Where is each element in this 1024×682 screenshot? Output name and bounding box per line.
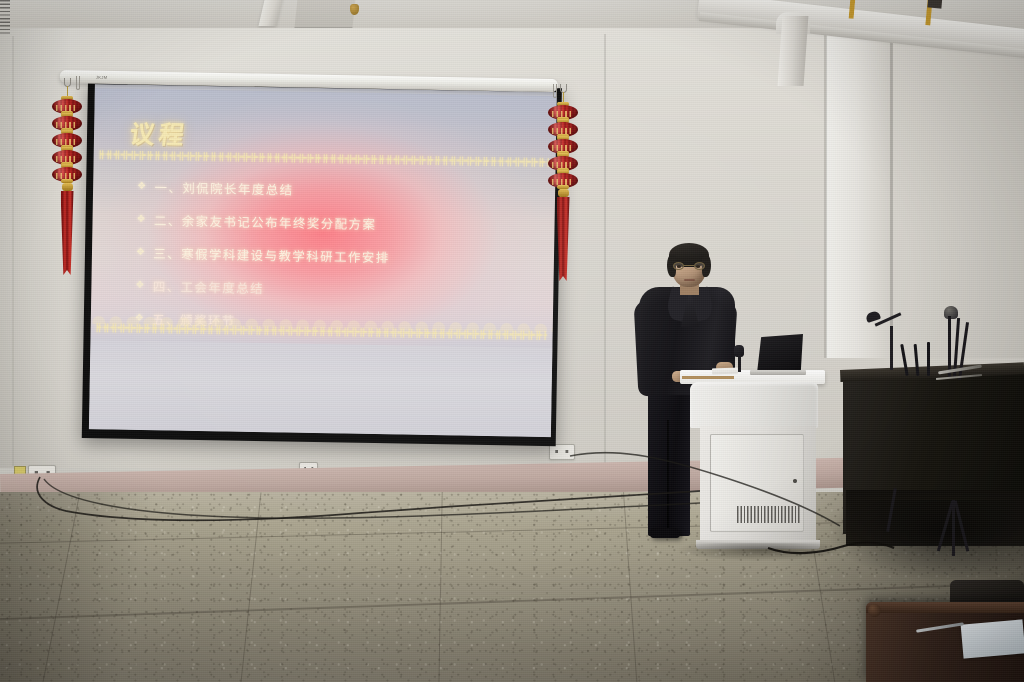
- projector-screen[interactable]: 议程 ❖ 一、刘侃院长年度总结 ❖ 二、余家友书记公布年终奖分配方案 ❖ 三、寒…: [82, 80, 562, 446]
- lectern-vent-side: [0, 0, 10, 34]
- bullet-marker-icon: ❖: [137, 181, 148, 192]
- slide-title: 议程: [128, 115, 191, 152]
- lantern-tassel-knot: [62, 183, 73, 191]
- laptop-screen[interactable]: [757, 334, 803, 373]
- lectern[interactable]: [0, 0, 10, 34]
- podium-paper: [712, 368, 738, 375]
- lectern-cabinet-door[interactable]: [710, 434, 804, 532]
- tripod-head-icon: [944, 306, 958, 319]
- list-item: ❖ 二、余家友书记公布年终奖分配方案: [136, 210, 534, 236]
- screen-blank-area: [89, 340, 552, 437]
- list-item: ❖ 三、寒假学科建设与教学科研工作安排: [136, 243, 534, 269]
- ceiling-panel: [294, 0, 355, 28]
- structural-column: [826, 28, 892, 358]
- gold-frame-dark-insert: [927, 0, 942, 9]
- column-edge-left: [824, 28, 827, 358]
- antenna-icon: [927, 342, 930, 376]
- foreground-desk-knob: [868, 604, 881, 617]
- wall-socket[interactable]: [549, 444, 575, 460]
- equipment-shadow: [830, 500, 1024, 580]
- foreground-papers: [961, 619, 1024, 658]
- presenter-legs: [648, 390, 690, 536]
- column-edge-right: [890, 28, 893, 358]
- presenter-eye-right: [696, 265, 700, 268]
- presenter-eye-left: [677, 265, 681, 268]
- conference-room-photo: JKJM 议程 ❖ 一、刘侃院长年度总结 ❖ 二、余家友书记公布年终奖分配方案: [0, 0, 1024, 682]
- lantern-tassel: [61, 191, 74, 275]
- chinese-lantern-string-right: [546, 84, 580, 281]
- lectern-shadow: [678, 543, 843, 561]
- projector-screen-surface: 议程 ❖ 一、刘侃院长年度总结 ❖ 二、余家友书记公布年终奖分配方案 ❖ 三、寒…: [89, 84, 557, 437]
- bullet-marker-icon: ❖: [135, 280, 146, 291]
- presenter-shoe: [650, 528, 680, 538]
- bullet-marker-icon: ❖: [136, 214, 147, 225]
- lantern-tassel: [557, 197, 570, 281]
- chinese-lantern-string-left: [50, 78, 84, 275]
- bullet-marker-icon: ❖: [136, 247, 147, 258]
- microphone-stem: [738, 352, 741, 372]
- lectern-trim: [682, 376, 734, 379]
- wall-joint-right: [604, 34, 606, 468]
- lantern-icon: [52, 164, 82, 183]
- lectern-front-panel: [690, 382, 818, 428]
- lock-icon[interactable]: [793, 479, 797, 483]
- pipe-downspout: [778, 16, 809, 86]
- presentation-slide: 议程 ❖ 一、刘侃院长年度总结 ❖ 二、余家友书记公布年终奖分配方案 ❖ 三、寒…: [90, 88, 556, 348]
- laptop-base[interactable]: [750, 370, 806, 375]
- list-item-label: 三、寒假学科建设与教学科研工作安排: [153, 243, 390, 266]
- foreground-desk-edge: [866, 602, 1024, 613]
- presenter-leg-seam: [667, 420, 669, 532]
- lantern-tassel-knot: [558, 189, 569, 197]
- list-item: ❖ 四、工会年度总结: [135, 276, 533, 302]
- lantern-icon: [548, 170, 578, 189]
- list-item-label: 四、工会年度总结: [153, 276, 265, 297]
- wall-joint-left: [12, 36, 14, 466]
- desk-lamp-post: [890, 326, 893, 370]
- floor-shadow-left: [0, 492, 160, 682]
- lectern-cabinet: [700, 426, 816, 544]
- list-item-label: 二、余家友书记公布年终奖分配方案: [154, 210, 377, 233]
- wall-right-recess: [892, 28, 1024, 358]
- lectern-vent: [737, 506, 801, 523]
- roller-brand-label: JKJM: [96, 75, 108, 80]
- list-item-label: 一、刘侃院长年度总结: [154, 177, 293, 198]
- ceiling-mount-knob: [350, 4, 359, 15]
- tripod-leg: [952, 500, 955, 556]
